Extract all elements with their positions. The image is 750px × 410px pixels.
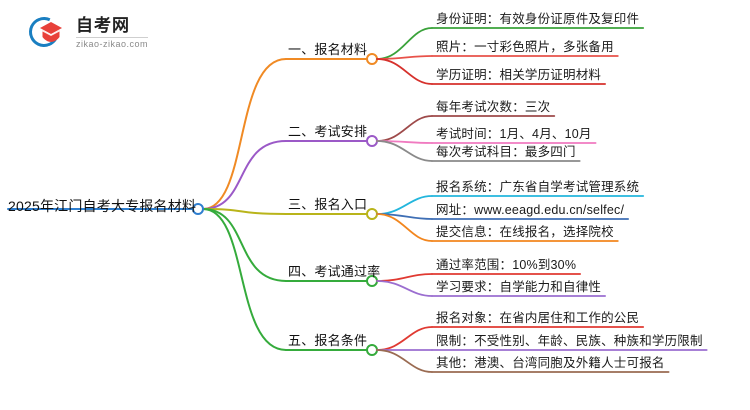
connector-line [203,141,286,209]
connector-line [377,116,432,141]
connector-line [377,274,432,281]
connector-line [203,59,286,209]
connector-node[interactable] [367,136,377,146]
leaf-node-label-1-2: 照片：一寸彩色照片，多张备用 [436,40,614,55]
connector-node[interactable] [367,209,377,219]
connector-line [377,281,432,296]
branch-node-label-2: 二、考试安排 [288,124,367,139]
leaf-node-label-2-1: 每年考试次数：三次 [436,100,550,115]
connector-node[interactable] [367,345,377,355]
branch-node-label-4: 四、考试通过率 [288,264,380,279]
leaf-node-label-2-2: 考试时间：1月、4月、10月 [436,127,592,142]
branch-node-label-3: 三、报名入口 [288,197,367,212]
connector-line [377,141,432,161]
leaf-node-label-4-2: 学习要求：自学能力和自律性 [436,280,601,295]
leaf-node-label-5-3: 其他：港澳、台湾同胞及外籍人士可报名 [436,356,665,371]
connector-line [203,209,286,281]
leaf-node-label-3-2: 网址：www.eeagd.edu.cn/selfec/ [436,203,624,218]
leaf-node-label-1-3: 学历证明：相关学历证明材料 [436,68,601,83]
connector-line [377,196,432,214]
leaf-node-label-3-1: 报名系统：广东省自学考试管理系统 [436,180,639,195]
leaf-node-label-1-1: 身份证明：有效身份证原件及复印件 [436,12,639,27]
leaf-node-label-3-3: 提交信息：在线报名，选择院校 [436,225,614,240]
connector-line [377,59,432,84]
leaf-node-label-4-1: 通过率范围：10%到30% [436,258,576,273]
connector-line [377,28,432,59]
connector-line [377,327,432,350]
branch-node-label-1: 一、报名材料 [288,42,367,57]
leaf-node-label-5-2: 限制：不受性别、年龄、民族、种族和学历限制 [436,334,703,349]
root-node-label: 2025年江门自考大专报名材料 [8,199,196,214]
connector-line [377,350,432,372]
leaf-node-label-5-1: 报名对象：在省内居住和工作的公民 [436,311,639,326]
branch-node-label-5: 五、报名条件 [288,333,367,348]
leaf-node-label-2-3: 每次考试科目：最多四门 [436,145,576,160]
connector-node[interactable] [367,54,377,64]
